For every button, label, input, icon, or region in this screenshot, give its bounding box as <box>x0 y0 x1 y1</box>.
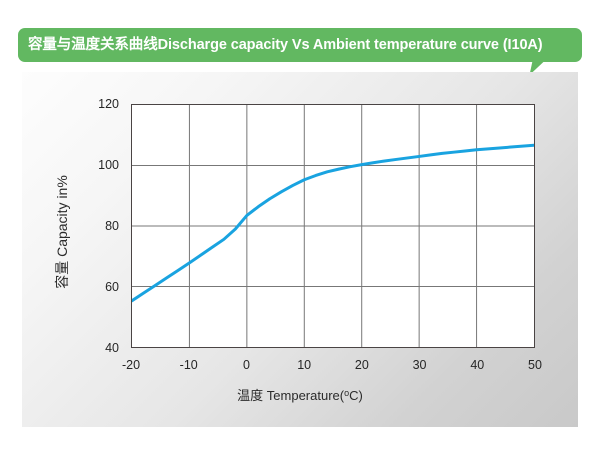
x-axis-tick-label: 30 <box>397 358 443 372</box>
x-axis-tick-label: 50 <box>512 358 558 372</box>
y-axis-tick-label: 120 <box>79 97 119 111</box>
data-series-group <box>132 145 534 300</box>
grid-lines <box>132 105 534 347</box>
chart-title-banner: 容量与温度关系曲线Discharge capacity Vs Ambient t… <box>18 28 582 62</box>
plot-svg <box>132 105 534 347</box>
chart-panel: 容量 Capacity in% 406080100120 -20-1001020… <box>22 72 578 427</box>
chart-page: 容量与温度关系曲线Discharge capacity Vs Ambient t… <box>0 0 600 451</box>
x-axis-title: 温度 Temperature(oC) <box>22 385 578 404</box>
x-axis-tick-label: -20 <box>108 358 154 372</box>
x-axis-tick-label: 10 <box>281 358 327 372</box>
y-axis-title: 容量 Capacity in% <box>52 132 72 332</box>
x-axis-tick-labels: -20-1001020304050 <box>22 358 578 378</box>
series-line <box>132 145 534 300</box>
x-axis-title-tail: C) <box>349 388 363 403</box>
y-axis-tick-label: 80 <box>79 219 119 233</box>
x-axis-title-main: 温度 Temperature( <box>237 388 344 403</box>
y-axis-tick-label: 40 <box>79 341 119 355</box>
x-axis-tick-label: 40 <box>454 358 500 372</box>
y-axis-tick-label: 100 <box>79 158 119 172</box>
page-title: 容量与温度关系曲线Discharge capacity Vs Ambient t… <box>28 38 543 53</box>
x-axis-tick-label: 20 <box>339 358 385 372</box>
plot-area <box>131 104 535 348</box>
x-axis-tick-label: 0 <box>223 358 269 372</box>
y-axis-tick-label: 60 <box>79 280 119 294</box>
x-axis-tick-label: -10 <box>166 358 212 372</box>
